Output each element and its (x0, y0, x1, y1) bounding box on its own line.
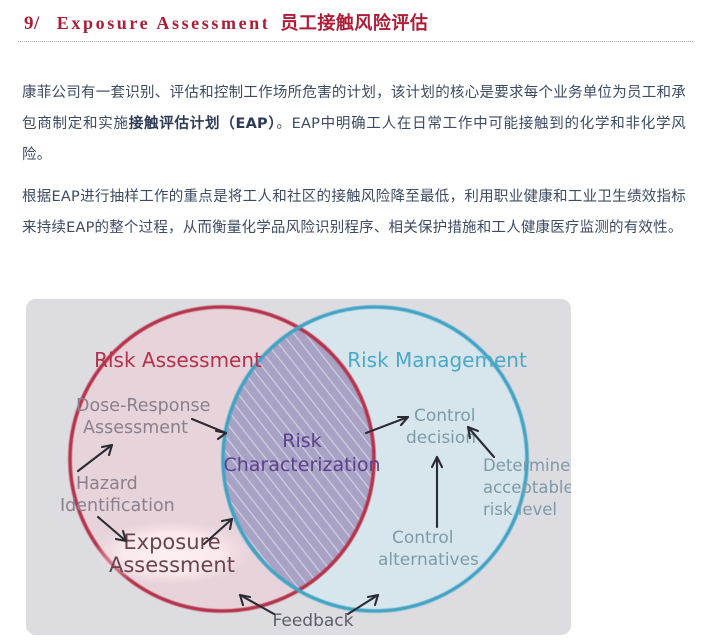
control-decision-line-2: decision (406, 428, 476, 448)
exposure-assessment-line-2: Assessment (109, 553, 235, 577)
header-divider (18, 41, 693, 42)
body-copy: 康菲公司有一套识别、评估和控制工作场所危害的计划，该计划的核心是要求每个业务单位… (22, 78, 686, 244)
paragraph-1: 康菲公司有一套识别、评估和控制工作场所危害的计划，该计划的核心是要求每个业务单位… (22, 78, 686, 171)
hazard-identification-line-1: Hazard (76, 474, 138, 494)
venn-diagram-svg: Risk Assessment Risk Management Dose-Res… (26, 299, 571, 635)
determine-risk-line-2: acceptable (483, 478, 571, 497)
control-alternatives-line-2: alternatives (378, 550, 479, 570)
paragraph-2: 根据EAP进行抽样工作的重点是将工人和社区的接触风险降至最低，利用职业健康和工业… (22, 182, 686, 244)
section-title-en: Exposure Assessment (57, 13, 271, 34)
eap-term-bold: 接触评估计划（EAP） (129, 116, 277, 132)
hazard-identification-line-2: Identification (60, 496, 175, 516)
left-circle-label: Risk Assessment (94, 348, 262, 372)
dose-response-line-1: Dose-Response (76, 396, 210, 416)
determine-risk-line-1: Determine (483, 456, 570, 475)
risk-characterization-line-1: Risk (282, 430, 321, 452)
control-alternatives-line-1: Control (392, 528, 453, 548)
right-circle-label: Risk Management (347, 348, 527, 372)
risk-characterization-line-2: Characterization (223, 454, 380, 476)
page-title: 9/ Exposure Assessment 员工接触风险评估 (24, 9, 684, 35)
dose-response-line-2: Assessment (83, 418, 188, 438)
determine-risk-line-3: risk level (483, 500, 557, 519)
control-decision-line-1: Control (414, 406, 475, 426)
venn-diagram-figure: Risk Assessment Risk Management Dose-Res… (26, 299, 571, 635)
feedback-label: Feedback (273, 611, 354, 631)
document-page: 9/ Exposure Assessment 员工接触风险评估 康菲公司有一套识… (0, 0, 708, 644)
section-number: 9/ (24, 13, 40, 35)
section-title-cn: 员工接触风险评估 (280, 9, 428, 35)
